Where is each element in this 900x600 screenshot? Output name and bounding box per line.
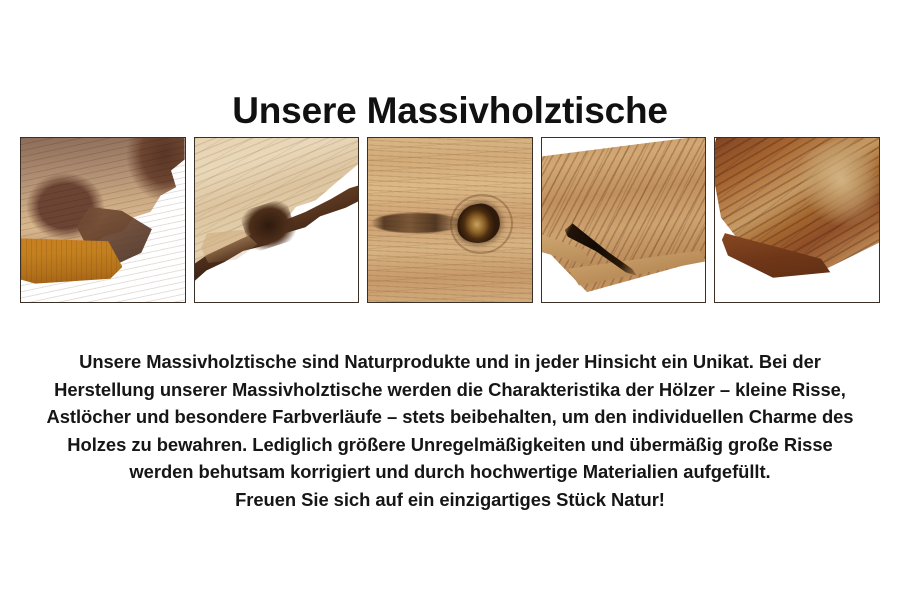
gallery-photo-3[interactable]: Holzmaserung mit Astloch und dunklem Far… [367, 137, 533, 303]
photo-gallery-strip: Massivholztisch Baumkante mit dunklem As… [20, 137, 880, 303]
body-line-2: Herstellung unserer Massivholztische wer… [28, 376, 872, 404]
body-line-6: Freuen Sie sich auf ein einzigartiges St… [28, 486, 872, 514]
gallery-photo-2[interactable]: Helle Massivholzplatte mit dunkler natue… [194, 137, 360, 303]
photo-5-image [715, 138, 879, 302]
body-line-3: Astlöcher und besondere Farbverläufe – s… [28, 403, 872, 431]
photo-1-image [21, 138, 185, 302]
body-line-1: Unsere Massivholztische sind Naturproduk… [28, 348, 872, 376]
photo-3-image [368, 138, 532, 302]
photo-4-image [542, 138, 706, 302]
gallery-photo-5[interactable]: Sheesham Palisander Tischplatte Ecke mit… [714, 137, 880, 303]
photo-1-edge-face [21, 236, 122, 285]
body-line-5: werden behutsam korrigiert und durch hoc… [28, 458, 872, 486]
body-paragraph: Unsere Massivholztische sind Naturproduk… [28, 348, 872, 514]
photo-2-image [195, 138, 359, 302]
gallery-photo-1[interactable]: Massivholztisch Baumkante mit dunklem As… [20, 137, 186, 303]
body-copy: Unsere Massivholztische sind Naturproduk… [28, 348, 872, 514]
body-line-4: Holzes zu bewahren. Lediglich größere Un… [28, 431, 872, 459]
gallery-photo-4[interactable]: Rustikale Mangoholzplatte mit Saegespure… [541, 137, 707, 303]
page-title: Unsere Massivholztische [0, 91, 900, 132]
promo-page: Unsere Massivholztische Massivholztisch … [0, 0, 900, 600]
